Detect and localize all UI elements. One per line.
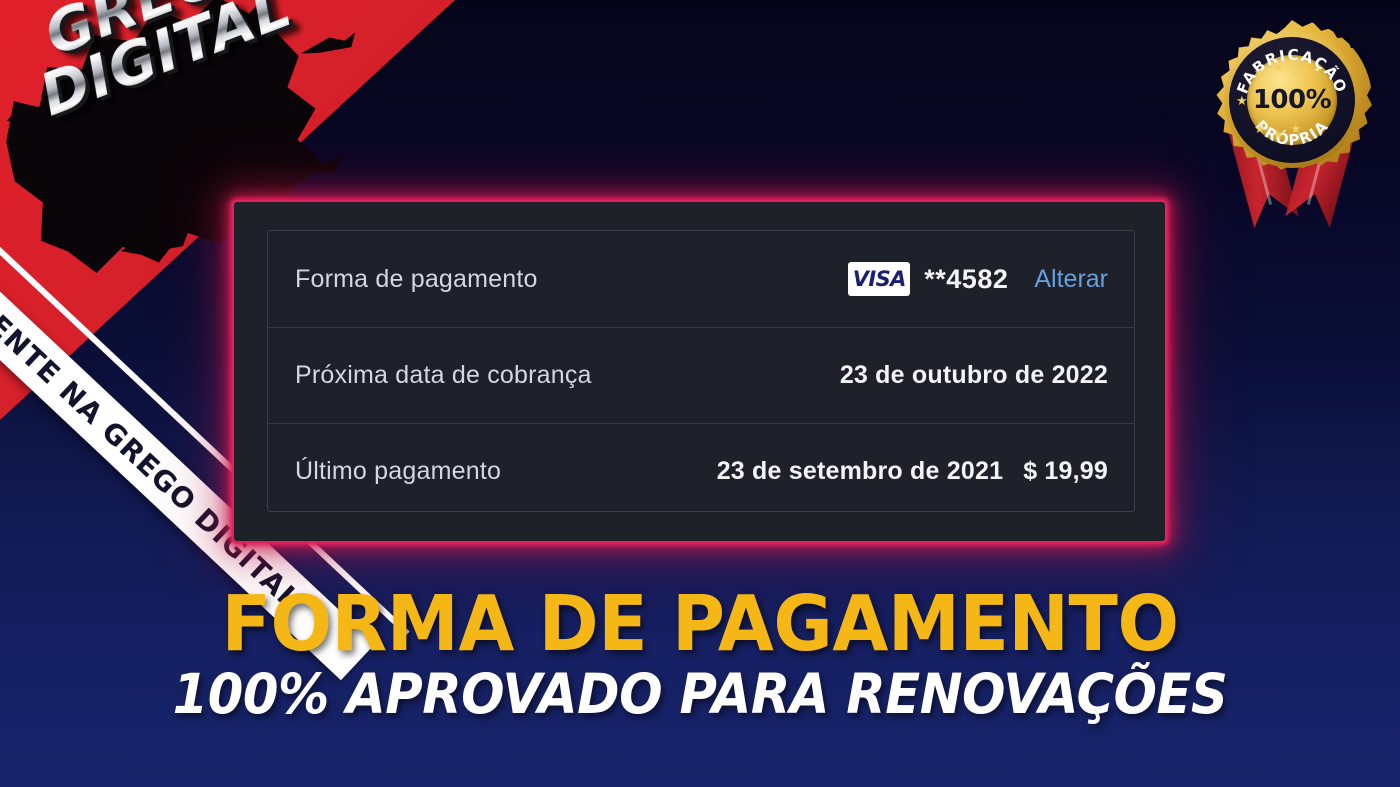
brand-logo-line-2: DIGITAL [34,0,333,123]
crack-shard-icon [118,221,195,265]
seal-outer-rim [1224,32,1360,168]
seal-percent-label: 100% [1247,55,1337,145]
last-payment-value-group: 23 de setembro de 2021 $ 19,99 [717,457,1108,486]
crack-shard-icon [281,149,346,187]
last-payment-amount-value: $ 19,99 [1023,457,1108,486]
seal-star-icon: ★ [1308,94,1320,107]
seal-star-icon: ★ [1254,122,1266,135]
seal-star-icon: ★ [1290,66,1302,79]
seal-inner-disc [1247,55,1337,145]
payment-panel: Forma de pagamento VISA **4582 Alterar P… [232,200,1167,543]
svg-text:FABRICAÇÃO: FABRICAÇÃO [1233,46,1350,96]
seal-star-icon: ★ [1236,94,1248,107]
seal-star-icon: ★ [1272,128,1284,141]
seal-gear-ring-icon [1212,20,1372,180]
seal-arc-text-top: FABRICAÇÃO PRÓPRIA [1229,37,1355,163]
brand-wordmark: GREGO DIGITAL [14,0,333,123]
table-row: Próxima data de cobrança 23 de outubro d… [268,327,1134,423]
quality-seal-badge: FABRICAÇÃO PRÓPRIA ★ ★ ★ ★ ★ ★ ★ ★ 100% [1206,16,1378,228]
headline-sub: 100% APROVADO PARA RENOVAÇÕES [49,666,1351,722]
visa-logo-label: VISA [853,267,906,291]
headline-block: FORMA DE PAGAMENTO 100% APROVADO PARA RE… [0,588,1400,722]
seal-star-icon: ★ [1272,60,1284,73]
card-last-four-digits: **4582 [924,264,1008,295]
table-row: Forma de pagamento VISA **4582 Alterar [268,231,1134,327]
seal-ribbon-sheen [1247,121,1272,205]
next-billing-date-label: Próxima data de cobrança [295,361,592,390]
payment-method-label: Forma de pagamento [295,265,538,294]
visa-card-icon: VISA [848,262,910,296]
last-payment-date-value: 23 de setembro de 2021 [717,457,1004,486]
payment-details-card: Forma de pagamento VISA **4582 Alterar P… [267,230,1135,512]
crack-shard-icon [4,101,44,129]
payment-method-value-group: VISA **4582 Alterar [848,262,1108,296]
seal-dark-ring [1229,37,1355,163]
seal-ribbon-right-icon [1285,116,1356,228]
next-billing-date-value-group: 23 de outubro de 2022 [840,361,1108,390]
last-payment-label: Último pagamento [295,457,501,486]
brand-logo-line-1: GREGO [38,0,313,62]
seal-ribbon-sheen [1307,121,1332,205]
headline-main: FORMA DE PAGAMENTO [42,588,1358,662]
table-row: Último pagamento 23 de setembro de 2021 … [268,423,1134,519]
crack-shard-icon [299,29,359,62]
seal-star-icon: ★ [1290,122,1302,135]
thumbnail-stage: GREGO DIGITAL SOMENTE NA GREGO DIGITAL F… [0,0,1400,787]
change-payment-method-link[interactable]: Alterar [1034,265,1108,294]
svg-text:PRÓPRIA: PRÓPRIA [1252,117,1333,150]
seal-ribbon-left-icon [1227,116,1298,228]
next-billing-date-value: 23 de outubro de 2022 [840,361,1108,390]
seal-star-icon: ★ [1254,66,1266,79]
